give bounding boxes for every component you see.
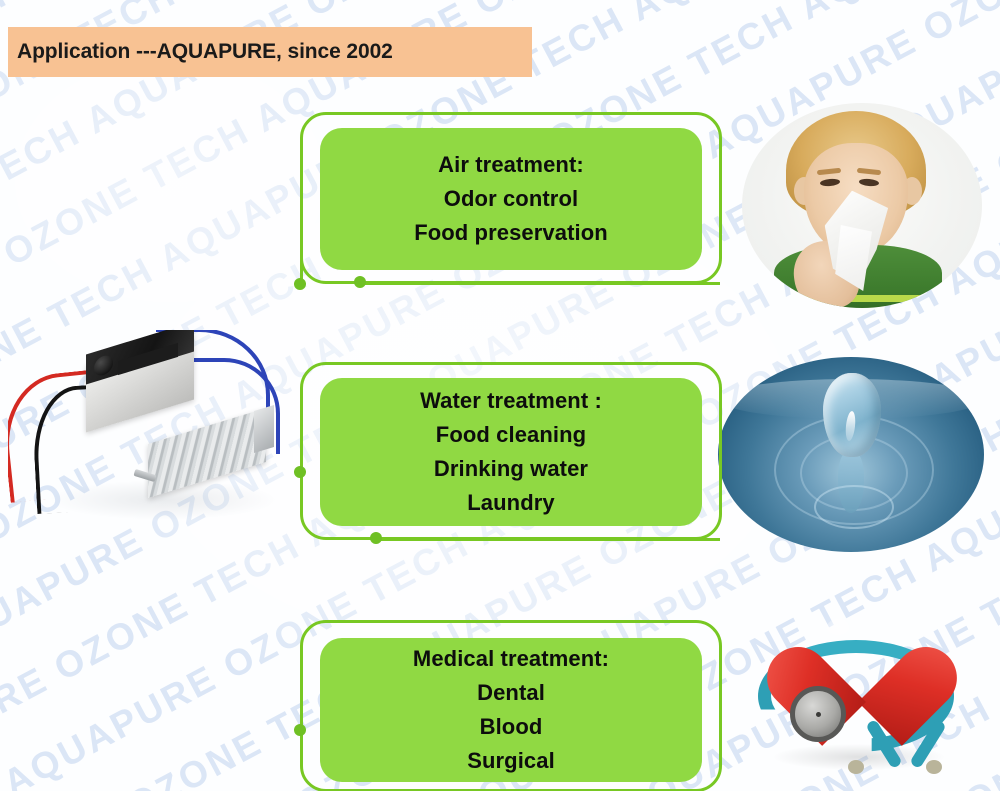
card-item: Food cleaning bbox=[436, 418, 586, 452]
stethoscope-eartip-right bbox=[926, 760, 942, 774]
stethoscope-eartip-left bbox=[848, 760, 864, 774]
card-connector-bottom-line bbox=[360, 282, 720, 285]
stethoscope-chestpiece-icon bbox=[790, 686, 846, 742]
slide-canvas: AQUAPURE OZONE TECH AQUAPURE OZONE TECH … bbox=[0, 0, 1000, 791]
card-item: Surgical bbox=[467, 744, 555, 778]
card-connector-bottom-dot bbox=[370, 532, 382, 544]
card-body: Air treatment: Odor control Food preserv… bbox=[320, 128, 702, 270]
card-connector-left-dot bbox=[294, 278, 306, 290]
card-item: Laundry bbox=[467, 486, 555, 520]
page-title-banner: Application ---AQUAPURE, since 2002 bbox=[8, 27, 532, 77]
card-body: Medical treatment: Dental Blood Surgical bbox=[320, 638, 702, 782]
child-blowing-nose-photo bbox=[742, 103, 982, 308]
heart-with-stethoscope-photo bbox=[730, 598, 990, 786]
card-water-treatment[interactable]: Water treatment : Food cleaning Drinking… bbox=[292, 362, 722, 552]
water-droplet-splash-photo bbox=[718, 357, 984, 552]
card-title: Water treatment : bbox=[420, 384, 602, 418]
ozone-tube-end-cap bbox=[254, 405, 274, 453]
card-body: Water treatment : Food cleaning Drinking… bbox=[320, 378, 702, 526]
card-item: Odor control bbox=[444, 182, 578, 216]
card-air-treatment[interactable]: Air treatment: Odor control Food preserv… bbox=[292, 112, 722, 297]
water-crown bbox=[814, 485, 894, 529]
card-title: Air treatment: bbox=[438, 148, 584, 182]
card-item: Drinking water bbox=[434, 452, 588, 486]
card-item: Blood bbox=[480, 710, 543, 744]
card-connector-left-dot bbox=[294, 724, 306, 736]
card-item: Food preservation bbox=[414, 216, 608, 250]
page-title: Application ---AQUAPURE, since 2002 bbox=[8, 40, 393, 64]
card-connector-bottom-dot bbox=[354, 276, 366, 288]
card-connector-left-line bbox=[300, 232, 303, 284]
ozone-generator-device-photo bbox=[8, 330, 298, 530]
card-item: Dental bbox=[477, 676, 545, 710]
card-connector-bottom-line bbox=[376, 538, 720, 541]
card-medical-treatment[interactable]: Medical treatment: Dental Blood Surgical bbox=[292, 620, 722, 791]
card-title: Medical treatment: bbox=[413, 642, 609, 676]
card-connector-left-dot bbox=[294, 466, 306, 478]
heart-highlight bbox=[826, 618, 856, 640]
